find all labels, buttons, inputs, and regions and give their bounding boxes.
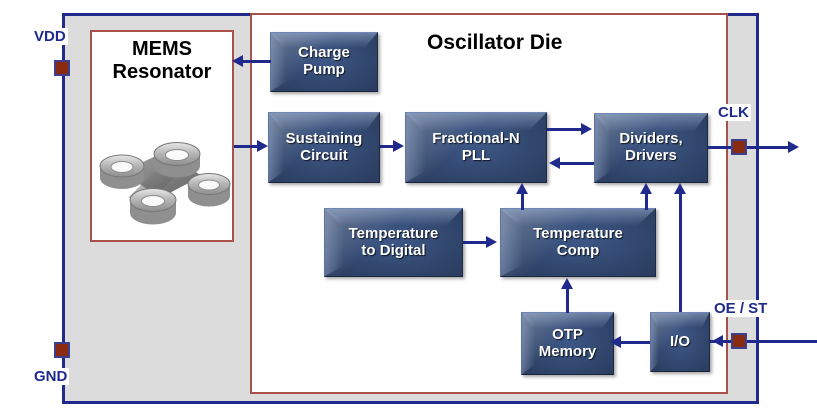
wire-tempcomp-to-pll — [521, 193, 524, 210]
pad-oe-st[interactable] — [731, 333, 747, 349]
arrowhead-io-to-otp — [610, 336, 621, 348]
block-fractional-n-pll-label: Fractional-N PLL — [432, 131, 520, 165]
block-otp-memory-label: OTP Memory — [539, 327, 597, 361]
block-otp-memory[interactable]: OTP Memory — [521, 312, 614, 375]
sustaining-circuit-line1: Sustaining — [286, 130, 363, 147]
pad-gnd[interactable] — [54, 342, 70, 358]
arrowhead-io-to-dividers — [674, 183, 686, 194]
pad-vdd[interactable] — [54, 60, 70, 76]
arrowhead-clk-output — [788, 141, 799, 153]
block-temperature-comp[interactable]: Temperature Comp — [500, 208, 656, 277]
pin-label-gnd: GND — [32, 368, 69, 385]
arrowhead-sustaining-to-pll — [393, 140, 404, 152]
block-io-label: I/O — [670, 334, 690, 351]
block-sustaining-circuit[interactable]: Sustaining Circuit — [268, 112, 380, 183]
arrowhead-charge-pump-to-mems — [232, 55, 243, 67]
mems-title-line1: MEMS — [90, 38, 234, 61]
arrowhead-otp-to-tempcomp — [561, 278, 573, 289]
charge-pump-line2: Pump — [303, 61, 345, 78]
otp-memory-line1: OTP — [552, 326, 583, 343]
arrowhead-tempcomp-to-pll — [516, 183, 528, 194]
wire-dividers-to-clk-pin — [708, 146, 790, 149]
block-sustaining-circuit-label: Sustaining Circuit — [286, 131, 363, 165]
pin-label-clk: CLK — [716, 104, 751, 121]
block-dividers-drivers[interactable]: Dividers, Drivers — [594, 113, 708, 183]
wire-mems-to-sustaining — [234, 145, 259, 148]
wire-oest-pin-to-io — [710, 340, 817, 343]
arrowhead-mems-to-sustaining — [257, 140, 268, 152]
pin-label-vdd: VDD — [32, 28, 68, 45]
pad-clk[interactable] — [731, 139, 747, 155]
sustaining-circuit-line2: Circuit — [300, 147, 348, 164]
block-temperature-comp-label: Temperature Comp — [533, 226, 623, 260]
arrowhead-oest-to-io — [712, 335, 723, 347]
block-fractional-n-pll[interactable]: Fractional-N PLL — [405, 112, 547, 183]
mems-resonator-title: MEMS Resonator — [90, 38, 234, 84]
block-charge-pump[interactable]: Charge Pump — [270, 32, 378, 92]
arrowhead-dividers-to-pll-feedback — [549, 157, 560, 169]
mems-resonator-icon — [92, 128, 232, 230]
dividers-drivers-line1: Dividers, — [619, 130, 682, 147]
wire-io-to-dividers — [679, 193, 682, 312]
wire-pll-to-dividers — [547, 128, 582, 131]
wire-tempcomp-to-dividers — [645, 193, 648, 210]
temperature-comp-line2: Comp — [557, 242, 600, 259]
temperature-to-digital-line2: to Digital — [361, 242, 425, 259]
arrowhead-pll-to-dividers — [581, 123, 592, 135]
fractional-n-pll-line1: Fractional-N — [432, 130, 520, 147]
otp-memory-line2: Memory — [539, 343, 597, 360]
block-charge-pump-label: Charge Pump — [298, 45, 350, 79]
pin-label-oe-st: OE / ST — [712, 300, 769, 317]
block-diagram: Oscillator Die MEMS Resonator — [0, 0, 817, 413]
wire-io-to-otp — [620, 341, 650, 344]
mems-title-line2: Resonator — [90, 61, 234, 84]
temperature-to-digital-line1: Temperature — [349, 225, 439, 242]
dividers-drivers-line2: Drivers — [625, 147, 677, 164]
wire-dividers-to-pll-feedback — [560, 162, 594, 165]
charge-pump-line1: Charge — [298, 44, 350, 61]
wire-tempdigital-to-tempcomp — [463, 241, 488, 244]
block-temperature-to-digital[interactable]: Temperature to Digital — [324, 208, 463, 277]
fractional-n-pll-line2: PLL — [462, 147, 490, 164]
arrowhead-tempcomp-to-dividers — [640, 183, 652, 194]
temperature-comp-line1: Temperature — [533, 225, 623, 242]
block-io[interactable]: I/O — [650, 312, 710, 372]
arrowhead-tempdigital-to-tempcomp — [486, 236, 497, 248]
oscillator-die-title: Oscillator Die — [427, 31, 562, 55]
wire-charge-pump-to-mems — [243, 60, 271, 63]
block-temperature-to-digital-label: Temperature to Digital — [349, 226, 439, 260]
wire-otp-to-tempcomp — [566, 288, 569, 313]
block-dividers-drivers-label: Dividers, Drivers — [619, 131, 682, 165]
